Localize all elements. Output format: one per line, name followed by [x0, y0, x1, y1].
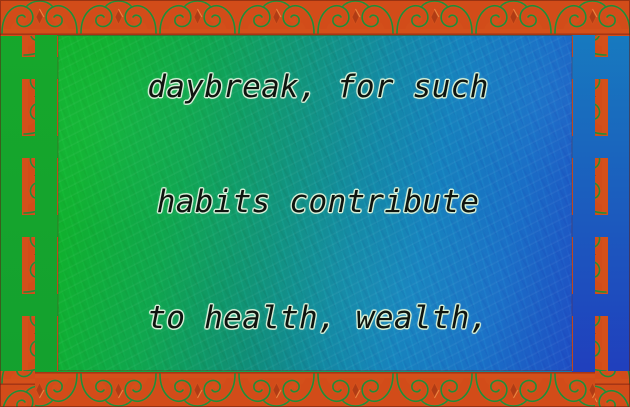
quote-poster: It is well to be up before daybreak, for… — [0, 0, 630, 407]
quote-line: to health, wealth, — [58, 299, 578, 338]
quote-text-block: It is well to be up before daybreak, for… — [58, 36, 578, 369]
quote-text: It is well to be up before daybreak, for… — [58, 0, 578, 407]
quote-line: daybreak, for such — [58, 68, 578, 107]
quote-line: habits contribute — [58, 183, 578, 222]
